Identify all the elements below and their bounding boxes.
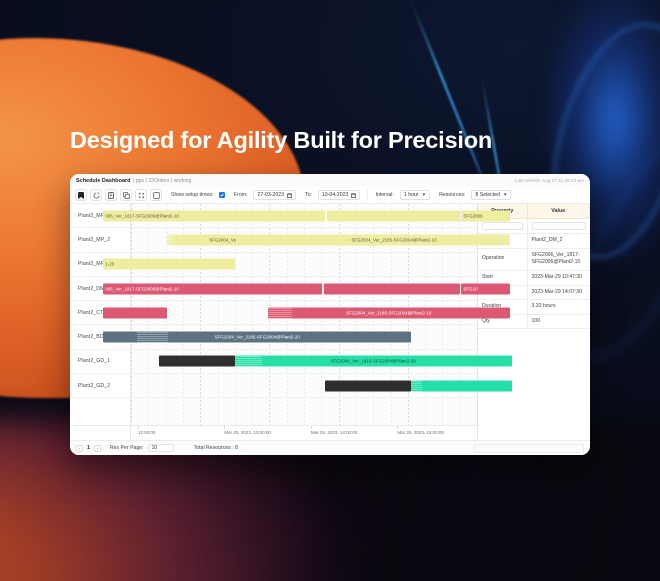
time-tick-label: 12:00:00 bbox=[138, 430, 156, 435]
property-value: 3.33 hours bbox=[527, 300, 589, 315]
property-value: SFG2006_Ver_1817-SFG2006@Plant2-10 bbox=[527, 248, 589, 270]
gantt-bar[interactable] bbox=[325, 380, 412, 391]
gantt-milestone-marker bbox=[325, 209, 327, 222]
chevron-down-icon: ▼ bbox=[503, 193, 508, 198]
resource-row-label[interactable]: Plant2_GD_2 bbox=[70, 374, 130, 398]
gantt-bar[interactable]: SFG2004_Ve bbox=[167, 234, 278, 245]
gantt-row: SFG2004_Ver_2185-SFG2004@Plant2-20 bbox=[131, 325, 477, 349]
gantt-bar[interactable] bbox=[103, 307, 167, 318]
property-row: OperationSFG2006_Ver_1817-SFG2006@Plant2… bbox=[478, 248, 590, 270]
gantt-bar[interactable]: SFG2004_Ver_1816-SFG2004@Plant2-30 bbox=[235, 356, 512, 367]
window-titlebar: Schedule Dashboard | pps | 32Orders | wo… bbox=[70, 174, 590, 187]
property-value: 2023-Mar-29 14:07:30 bbox=[527, 285, 589, 300]
gantt-bar-label: SFG2004_Ver_1816-SFG2004@Plant2-30 bbox=[329, 359, 418, 364]
time-tick-mark bbox=[138, 426, 139, 429]
value-filter-input[interactable] bbox=[532, 222, 586, 230]
gantt-row bbox=[131, 374, 477, 398]
chevron-down-icon: ▼ bbox=[422, 193, 427, 198]
schedule-dashboard-window: Schedule Dashboard | pps | 32Orders | wo… bbox=[70, 174, 590, 455]
toolbar-divider bbox=[367, 190, 368, 201]
refresh-icon[interactable] bbox=[90, 189, 102, 201]
gantt-bar-label: 006_Ver_1817-SFG2006@Plant2-10 bbox=[103, 213, 181, 218]
current-page-number: 1 bbox=[87, 445, 90, 451]
gantt-row: SFG2004_VeSFG2004_Ver_2185-SFG2004@Plant… bbox=[131, 228, 477, 252]
time-axis: 12:00:00Mar 29, 2023, 13:00:00Mar 29, 20… bbox=[70, 425, 477, 440]
gantt-row: SFG2004_Ver_1816-SFG2004@Plant2-30 bbox=[131, 350, 477, 374]
to-date-value: 10-04-2023 bbox=[322, 192, 349, 198]
grid-view-icon[interactable] bbox=[135, 189, 147, 201]
time-tick-mark bbox=[311, 426, 312, 429]
show-setup-times-checkbox[interactable] bbox=[219, 192, 225, 198]
duplicate-icon[interactable] bbox=[120, 189, 132, 201]
gantt-bar[interactable]: SFG20 bbox=[461, 283, 509, 294]
gantt-bar[interactable]: SFG2006 bbox=[461, 210, 509, 221]
gantt-scroll-area[interactable]: Plant2_MP_3Plant2_MP_2Plant2_MP_1Plant2_… bbox=[70, 204, 477, 425]
res-per-page-input[interactable]: 10 bbox=[148, 444, 174, 453]
gantt-bar[interactable]: 006_Ver_1817-SFG2006@Plant2-10 bbox=[103, 283, 459, 294]
gantt-bar[interactable] bbox=[159, 356, 235, 367]
property-value: 100 bbox=[527, 314, 589, 329]
calendar-icon bbox=[351, 193, 356, 198]
gantt-bar-label: SFG20 bbox=[461, 286, 479, 291]
toolbar: Show setup times: From: 27-03-2023 To: 1… bbox=[70, 187, 590, 204]
resources-select[interactable]: 8 Selected ▼ bbox=[471, 190, 511, 200]
footer-right-field bbox=[474, 444, 584, 453]
to-label: To: bbox=[305, 192, 312, 198]
gantt-rows: 006_Ver_1817-SFG2006@Plant2-10SFG2006SFG… bbox=[131, 204, 477, 398]
resources-value: 8 Selected bbox=[475, 192, 500, 198]
footer: ‹ 1 › Res Per Page: 10 Total Resources :… bbox=[70, 440, 590, 455]
gantt-pane: Plant2_MP_3Plant2_MP_2Plant2_MP_1Plant2_… bbox=[70, 204, 478, 440]
gantt-row: 006_Ver_1817-SFG2006@Plant2-10SFG2006 bbox=[131, 204, 477, 228]
time-axis-ticks: 12:00:00Mar 29, 2023, 13:00:00Mar 29, 20… bbox=[131, 426, 477, 440]
gantt-bar[interactable]: SFG2004_Ver_2185-SFG2004@Plant2-10 bbox=[268, 307, 510, 318]
gantt-bar[interactable]: 006_Ver_1817-SFG2006@Plant2-10 bbox=[103, 210, 459, 221]
gantt-bar-label: SFG2004_Ver_2185-SFG2004@Plant2-20 bbox=[213, 335, 302, 340]
from-date-input[interactable]: 27-03-2023 bbox=[253, 190, 296, 200]
setup-time-hatch bbox=[167, 234, 171, 245]
resource-row-label[interactable]: Plant2_GD_1 bbox=[70, 350, 130, 374]
setup-time-hatch bbox=[411, 380, 422, 391]
fullscreen-icon[interactable] bbox=[150, 189, 162, 201]
gantt-row: SFG2004_Ver_2185-SFG2004@Plant2-10 bbox=[131, 301, 477, 325]
property-key: Operation bbox=[478, 248, 527, 270]
gantt-bar[interactable] bbox=[411, 380, 511, 391]
save-icon[interactable] bbox=[75, 189, 87, 201]
gantt-bar-label: 006_Ver_1817-SFG2006@Plant2-10 bbox=[103, 286, 181, 291]
interval-value: 1 hour bbox=[404, 192, 419, 198]
gantt-row: 006_Ver_1817-SFG2006@Plant2-10SFG20 bbox=[131, 277, 477, 301]
gantt-row: 1-20 bbox=[131, 253, 477, 277]
last-refresh-label: Last refresh: Aug 27 11:46:43 am bbox=[515, 178, 584, 183]
property-filter-input[interactable] bbox=[482, 222, 523, 230]
resources-label: Resources: bbox=[439, 192, 465, 198]
window-title: Schedule Dashboard bbox=[76, 178, 131, 184]
window-body: Plant2_MP_3Plant2_MP_2Plant2_MP_1Plant2_… bbox=[70, 204, 590, 440]
time-tick-label: Mar 29, 2023, 15:00:00 bbox=[397, 430, 444, 435]
total-resources-label: Total Resources : 8 bbox=[194, 445, 238, 451]
gantt-bar-label: SFG2006 bbox=[461, 213, 484, 218]
gantt-bar[interactable]: 1-20 bbox=[103, 259, 234, 270]
interval-select[interactable]: 1 hour ▼ bbox=[400, 190, 430, 200]
gantt-bar[interactable]: SFG2004_Ver_2185-SFG2004@Plant2-20 bbox=[103, 332, 411, 343]
to-date-input[interactable]: 10-04-2023 bbox=[318, 190, 361, 200]
gantt-grid[interactable]: 006_Ver_1817-SFG2006@Plant2-10SFG2006SFG… bbox=[131, 204, 477, 425]
property-value: Plant2_DM_2 bbox=[527, 234, 589, 249]
gantt-bar-label: SFG2004_Ve bbox=[207, 237, 238, 242]
show-setup-times-label: Show setup times: bbox=[171, 192, 213, 198]
time-tick-label: Mar 29, 2023, 13:00:00 bbox=[224, 430, 271, 435]
property-value: 2023-Mar-29 10:47:30 bbox=[527, 270, 589, 285]
value-column-header: Value bbox=[527, 204, 589, 219]
report-icon[interactable] bbox=[105, 189, 117, 201]
time-axis-spacer bbox=[70, 426, 131, 440]
from-label: From: bbox=[234, 192, 248, 198]
interval-label: Interval: bbox=[375, 192, 393, 198]
window-title-meta: | pps | 32Orders | working bbox=[133, 178, 191, 184]
calendar-icon bbox=[287, 193, 292, 198]
page-title: Designed for Agility Built for Precision bbox=[70, 127, 492, 154]
time-tick-mark bbox=[224, 426, 225, 429]
setup-time-hatch bbox=[137, 332, 168, 343]
setup-time-hatch bbox=[268, 307, 292, 318]
gantt-bar[interactable]: SFG2004_Ver_2185-SFG2004@Plant2-10 bbox=[278, 234, 510, 245]
from-date-value: 27-03-2023 bbox=[257, 192, 284, 198]
gantt-bar-label: SFG2004_Ver_2185-SFG2004@Plant2-10 bbox=[344, 310, 433, 315]
resource-row-label[interactable]: Plant2_MP_2 bbox=[70, 228, 130, 252]
res-per-page-label: Res Per Page: bbox=[110, 445, 144, 451]
gantt-bar-label: 1-20 bbox=[103, 262, 116, 267]
setup-time-hatch bbox=[235, 356, 263, 367]
next-page-button[interactable]: › bbox=[94, 445, 101, 452]
time-tick-label: Mar 29, 2023, 14:00:00 bbox=[311, 430, 358, 435]
prev-page-button[interactable]: ‹ bbox=[76, 445, 83, 452]
gantt-milestone-marker bbox=[322, 282, 324, 295]
time-tick-mark bbox=[397, 426, 398, 429]
gantt-bar-label: SFG2004_Ver_2185-SFG2004@Plant2-10 bbox=[349, 237, 438, 242]
